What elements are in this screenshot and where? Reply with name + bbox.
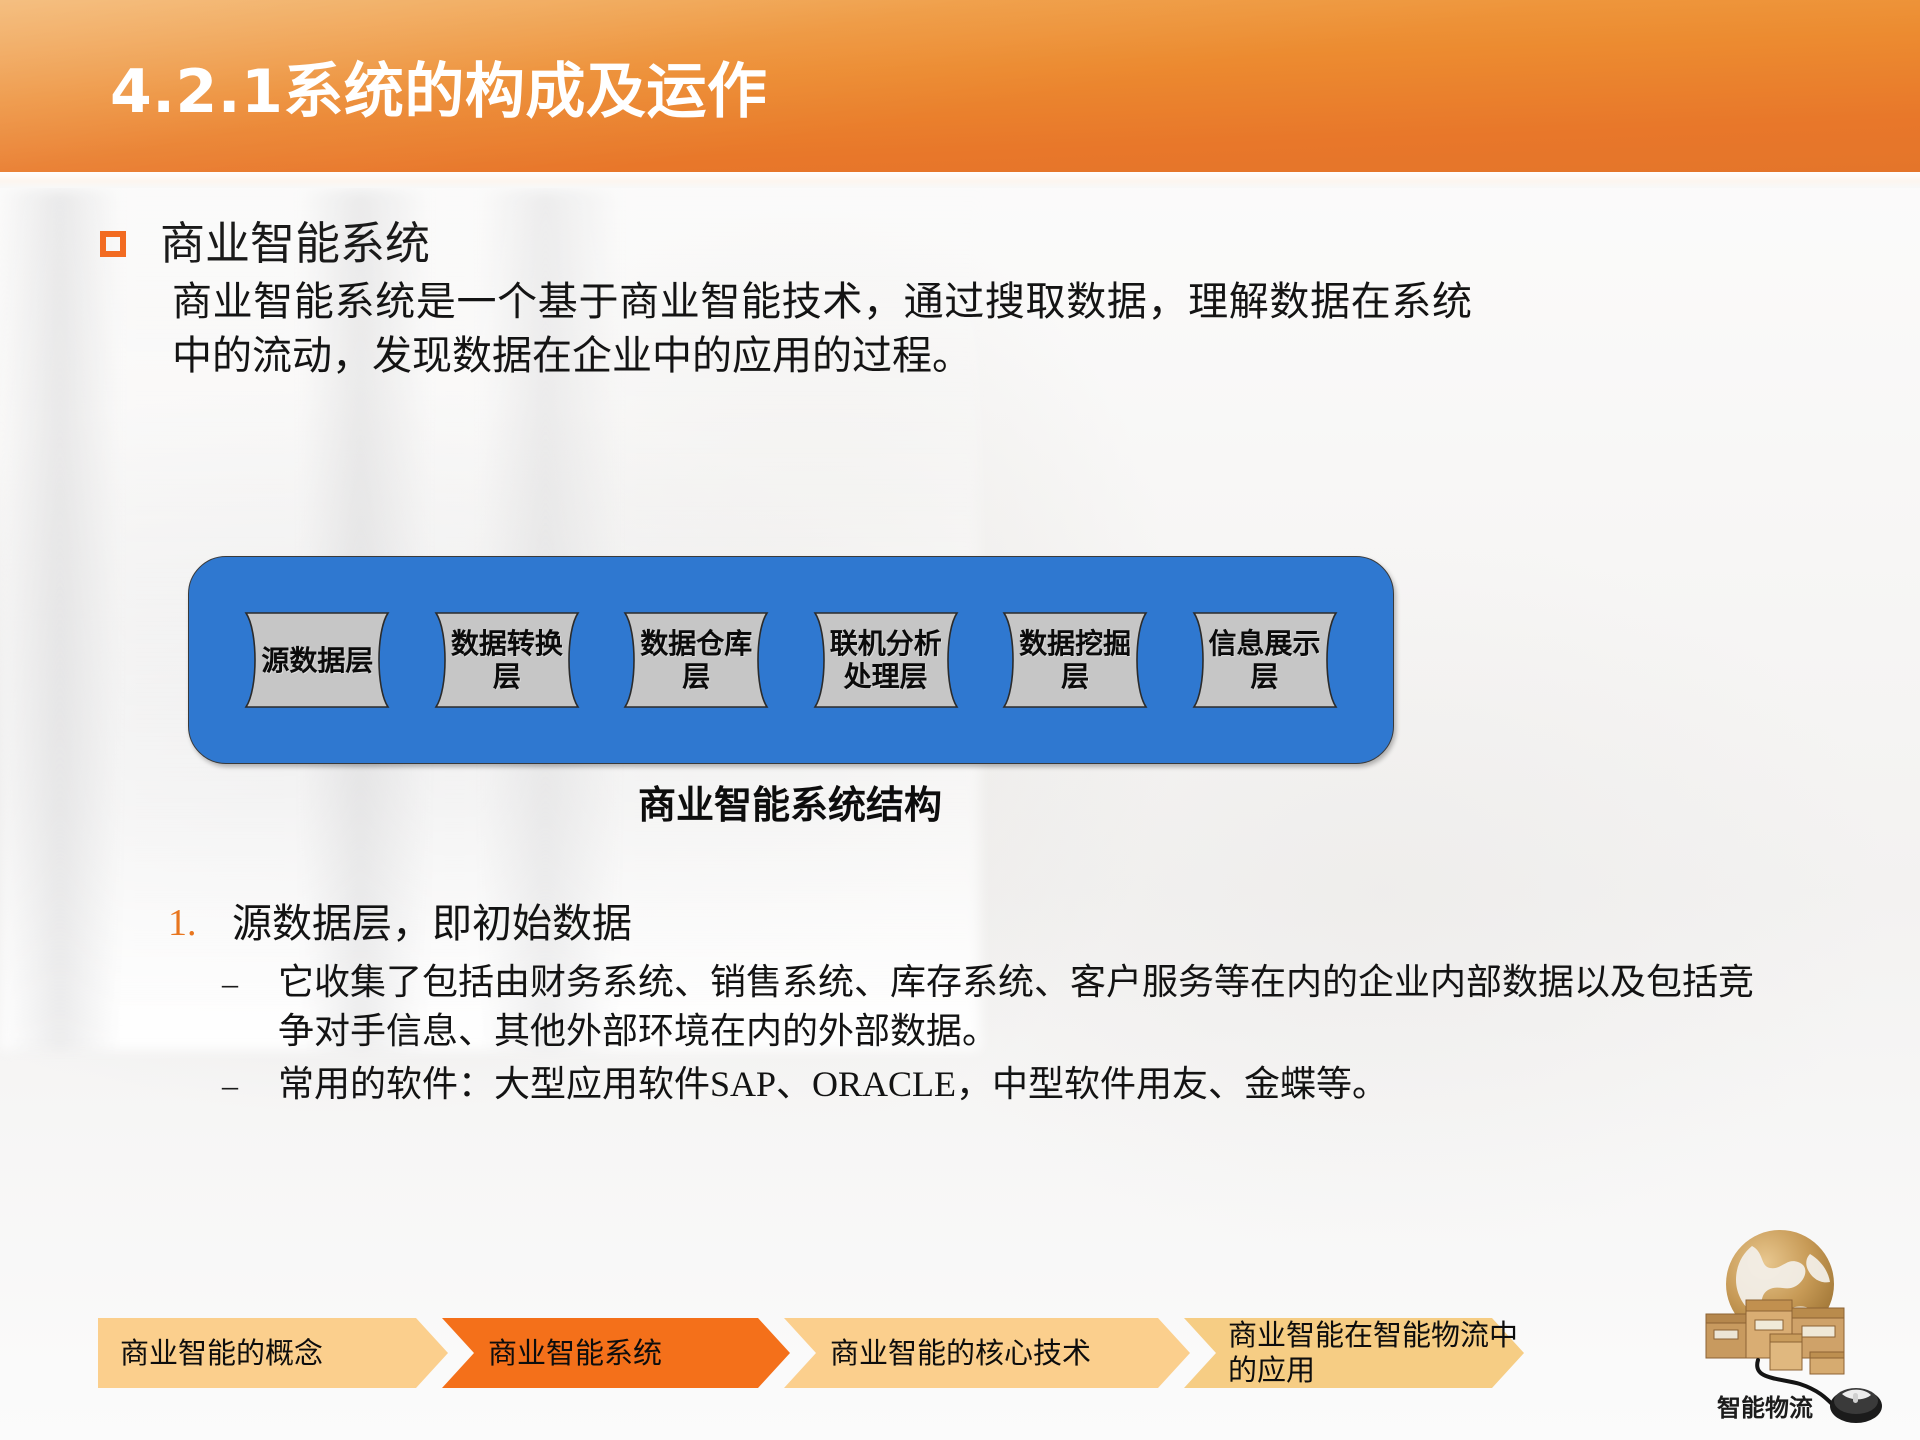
diagram-node: 数据挖掘层 bbox=[996, 611, 1154, 709]
section-paragraph: 商业智能系统是一个基于商业智能技术，通过搜取数据，理解数据在系统中的流动，发现数… bbox=[172, 275, 1472, 383]
diagram-node-label: 联机分析处理层 bbox=[830, 627, 942, 693]
diagram-node: 数据转换层 bbox=[428, 611, 586, 709]
diagram-node-row: 源数据层 数据转换层 数据仓库层 联机分析处理层 数据挖掘层 bbox=[189, 557, 1393, 763]
nav-item-label: 商业智能的核心技术 bbox=[830, 1336, 1091, 1371]
dash-bullet-icon: – bbox=[222, 958, 278, 1008]
nav-item-logistics-app[interactable]: 商业智能在智能物流中的应用 bbox=[1184, 1318, 1524, 1388]
nav-item-label: 商业智能在智能物流中的应用 bbox=[1228, 1318, 1524, 1388]
diagram-node: 信息展示层 bbox=[1186, 611, 1344, 709]
diagram-node: 数据仓库层 bbox=[617, 611, 775, 709]
sub-list: – 它收集了包括由财务系统、销售系统、库存系统、客户服务等在内的企业内部数据以及… bbox=[222, 958, 1828, 1110]
section-heading: 商业智能系统 bbox=[160, 218, 430, 270]
header-underline bbox=[0, 172, 1920, 188]
logo-caption: 智能物流 bbox=[1690, 1388, 1840, 1423]
bi-system-diagram: 源数据层 数据转换层 数据仓库层 联机分析处理层 数据挖掘层 bbox=[188, 556, 1394, 764]
section-heading-row: 商业智能系统 bbox=[100, 218, 430, 270]
square-bullet-icon bbox=[100, 231, 126, 257]
bottom-navigation: 商业智能的概念 商业智能系统 商业智能的核心技术 商业智能在智能物流中的应用 bbox=[98, 1318, 1818, 1388]
diagram-caption: 商业智能系统结构 bbox=[188, 782, 1392, 828]
diagram-node: 源数据层 bbox=[238, 611, 396, 709]
nav-item-label: 商业智能系统 bbox=[488, 1336, 662, 1371]
content-list: 1. 源数据层，即初始数据 – 它收集了包括由财务系统、销售系统、库存系统、客户… bbox=[168, 898, 1828, 1114]
diagram-node: 联机分析处理层 bbox=[807, 611, 965, 709]
diagram-node-label: 数据仓库层 bbox=[640, 627, 752, 693]
dash-bullet-icon: – bbox=[222, 1060, 278, 1110]
list-item-text: 源数据层，即初始数据 bbox=[232, 898, 632, 950]
nav-item-system[interactable]: 商业智能系统 bbox=[442, 1318, 790, 1388]
sub-list-item: – 常用的软件：大型应用软件SAP、ORACLE，中型软件用友、金蝶等。 bbox=[222, 1060, 1828, 1110]
list-marker: 1. bbox=[168, 898, 232, 948]
nav-item-label: 商业智能的概念 bbox=[120, 1336, 323, 1371]
nav-item-concept[interactable]: 商业智能的概念 bbox=[98, 1318, 448, 1388]
diagram-node-label: 源数据层 bbox=[261, 644, 373, 677]
list-item: 1. 源数据层，即初始数据 bbox=[168, 898, 1828, 950]
sub-list-item-text: 它收集了包括由财务系统、销售系统、库存系统、客户服务等在内的企业内部数据以及包括… bbox=[278, 958, 1768, 1056]
sub-list-item: – 它收集了包括由财务系统、销售系统、库存系统、客户服务等在内的企业内部数据以及… bbox=[222, 958, 1828, 1056]
sub-list-item-text: 常用的软件：大型应用软件SAP、ORACLE，中型软件用友、金蝶等。 bbox=[278, 1060, 1768, 1109]
diagram-node-label: 信息展示层 bbox=[1209, 627, 1321, 693]
diagram-node-label: 数据挖掘层 bbox=[1019, 627, 1131, 693]
page-title: 4.2.1系统的构成及运作 bbox=[110, 56, 767, 128]
diagram-node-label: 数据转换层 bbox=[451, 627, 563, 693]
nav-item-core-tech[interactable]: 商业智能的核心技术 bbox=[784, 1318, 1190, 1388]
